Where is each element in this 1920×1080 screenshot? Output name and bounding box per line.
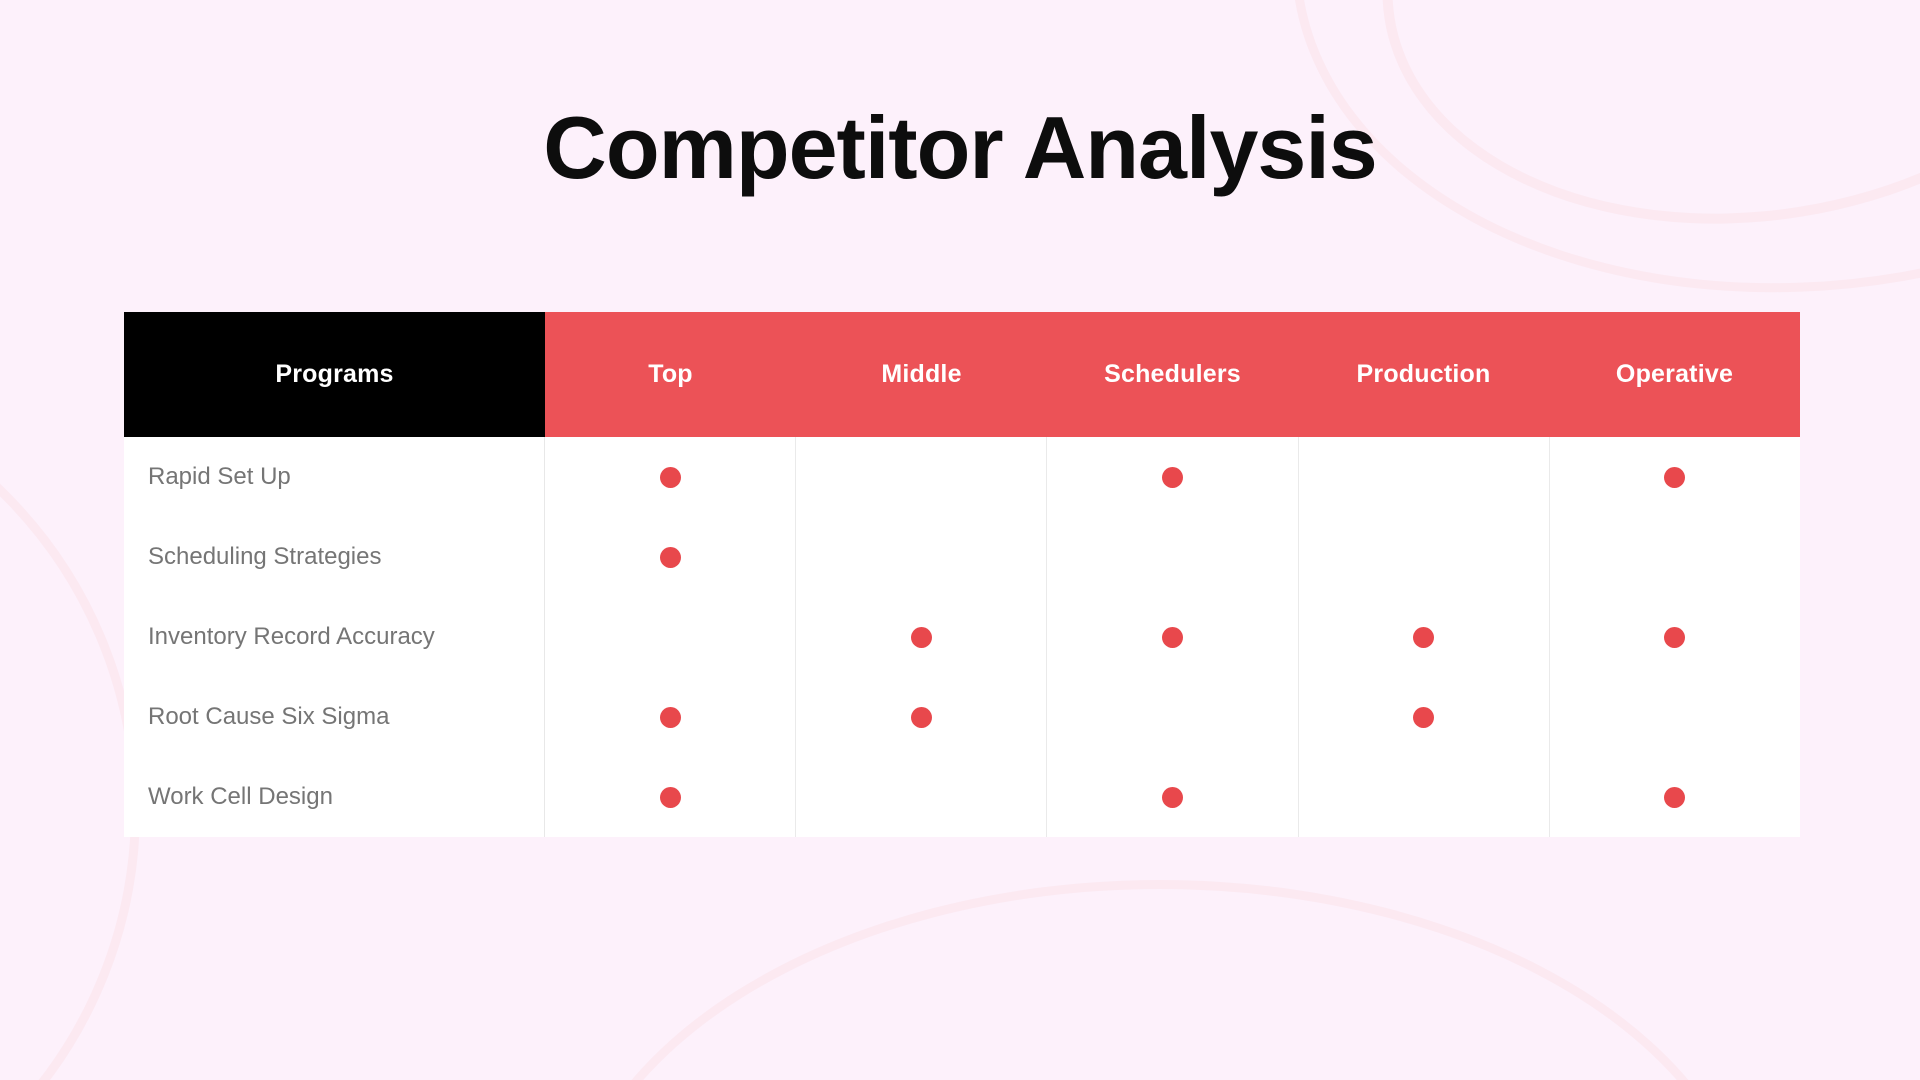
table-row-label: Root Cause Six Sigma [124,677,545,757]
filled-dot-icon [911,627,932,648]
table-header-top: Top [545,360,796,389]
table-body: Rapid Set UpScheduling StrategiesInvento… [124,437,1800,837]
table-cell-top [545,517,796,597]
filled-dot-icon [1664,627,1685,648]
table-header-production: Production [1298,360,1549,389]
filled-dot-icon [660,787,681,808]
table-cell-operative [1550,597,1800,677]
comparison-table: Programs Top Middle Schedulers Productio… [124,312,1800,837]
table-row-label: Scheduling Strategies [124,517,545,597]
table-cell-operative [1550,757,1800,837]
filled-dot-icon [1162,467,1183,488]
empty-cell-marker [1664,707,1685,728]
table-cell-schedulers [1047,677,1298,757]
table-row: Scheduling Strategies [124,517,1800,597]
empty-cell-marker [1664,547,1685,568]
table-cell-production [1299,517,1550,597]
slide-canvas: Competitor Analysis Programs Top Middle … [0,0,1920,1080]
table-cell-production [1299,437,1550,517]
table-row: Root Cause Six Sigma [124,677,1800,757]
decorative-arc-left [0,360,140,1080]
table-cell-middle [796,517,1047,597]
table-row: Rapid Set Up [124,437,1800,517]
table-row-cells [545,517,1800,597]
table-header-columns: Top Middle Schedulers Production Operati… [545,312,1800,437]
table-header-operative: Operative [1549,360,1800,389]
table-cell-operative [1550,517,1800,597]
table-cell-production [1299,757,1550,837]
filled-dot-icon [1413,707,1434,728]
empty-cell-marker [1162,547,1183,568]
table-row-label: Inventory Record Accuracy [124,597,545,677]
filled-dot-icon [1413,627,1434,648]
table-cell-schedulers [1047,517,1298,597]
table-cell-middle [796,677,1047,757]
table-cell-schedulers [1047,757,1298,837]
table-cell-top [545,677,796,757]
table-header-row: Programs Top Middle Schedulers Productio… [124,312,1800,437]
table-row: Work Cell Design [124,757,1800,837]
filled-dot-icon [660,707,681,728]
filled-dot-icon [1162,627,1183,648]
empty-cell-marker [660,627,681,648]
empty-cell-marker [1413,787,1434,808]
table-cell-top [545,757,796,837]
table-cell-middle [796,437,1047,517]
table-cell-schedulers [1047,597,1298,677]
table-cell-middle [796,757,1047,837]
empty-cell-marker [911,467,932,488]
table-cell-top [545,597,796,677]
table-cell-top [545,437,796,517]
table-row: Inventory Record Accuracy [124,597,1800,677]
table-cell-middle [796,597,1047,677]
table-row-cells [545,757,1800,837]
table-row-cells [545,677,1800,757]
table-cell-production [1299,677,1550,757]
table-cell-schedulers [1047,437,1298,517]
empty-cell-marker [1413,547,1434,568]
table-cell-operative [1550,677,1800,757]
filled-dot-icon [1664,467,1685,488]
table-row-label: Rapid Set Up [124,437,545,517]
filled-dot-icon [1162,787,1183,808]
table-cell-operative [1550,437,1800,517]
empty-cell-marker [1162,707,1183,728]
table-row-cells [545,597,1800,677]
decorative-arc-bottom [560,880,1760,1080]
table-row-label: Work Cell Design [124,757,545,837]
table-header-schedulers: Schedulers [1047,360,1298,389]
table-header-programs-label: Programs [275,360,393,389]
table-cell-production [1299,597,1550,677]
filled-dot-icon [660,467,681,488]
filled-dot-icon [660,547,681,568]
table-row-cells [545,437,1800,517]
table-header-programs: Programs [124,312,545,437]
page-title: Competitor Analysis [0,100,1920,197]
filled-dot-icon [1664,787,1685,808]
empty-cell-marker [911,547,932,568]
table-header-middle: Middle [796,360,1047,389]
filled-dot-icon [911,707,932,728]
empty-cell-marker [1413,467,1434,488]
empty-cell-marker [911,787,932,808]
